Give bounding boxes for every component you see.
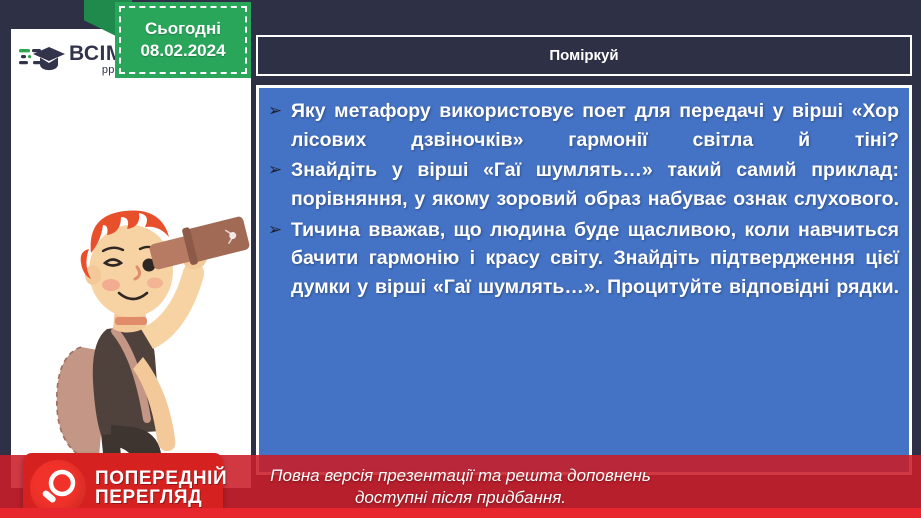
question-text: Знайдіть у вірші «Гаї шумлять…» такий са…	[291, 156, 899, 213]
list-item: ➢ Яку метафору використовує поет для пер…	[265, 97, 899, 154]
bullet-arrow-icon: ➢	[265, 216, 285, 243]
footer-accent-strip	[0, 508, 921, 518]
bullet-arrow-icon: ➢	[265, 97, 285, 124]
preview-badge-line1: ПОПЕРЕДНІЙ	[95, 469, 227, 488]
list-item: ➢ Тичина вважав, що людина буде щасливою…	[265, 216, 899, 302]
bullet-arrow-icon: ➢	[265, 156, 285, 183]
slide-title-bar: Поміркуй	[256, 35, 912, 76]
content-panel: ➢ Яку метафору використовує поет для пер…	[256, 85, 912, 475]
preview-badge-line2: ПЕРЕГЛЯД	[95, 488, 227, 507]
purchase-notice-line1: Повна версія презентації та решта доповн…	[270, 466, 651, 485]
question-text: Яку метафору використовує поет для перед…	[291, 97, 899, 154]
boy-with-telescope-illustration	[23, 179, 253, 469]
presentation-slide: ВСІМ pptx	[0, 0, 921, 518]
date-badge-label: Сьогодні	[115, 19, 251, 39]
date-badge: Сьогодні 08.02.2024	[115, 2, 251, 78]
list-item: ➢ Знайдіть у вірші «Гаї шумлять…» такий …	[265, 156, 899, 213]
graduation-cap-icon	[19, 42, 65, 76]
question-text: Тичина вважав, що людина буде щасливою, …	[291, 216, 899, 302]
page-title: Поміркуй	[549, 47, 618, 64]
purchase-notice-line2: доступні після придбання.	[355, 488, 566, 507]
date-badge-value: 08.02.2024	[115, 41, 251, 61]
left-panel: ВСІМ pptx	[11, 29, 251, 488]
question-list: ➢ Яку метафору використовує поет для пер…	[259, 88, 909, 302]
